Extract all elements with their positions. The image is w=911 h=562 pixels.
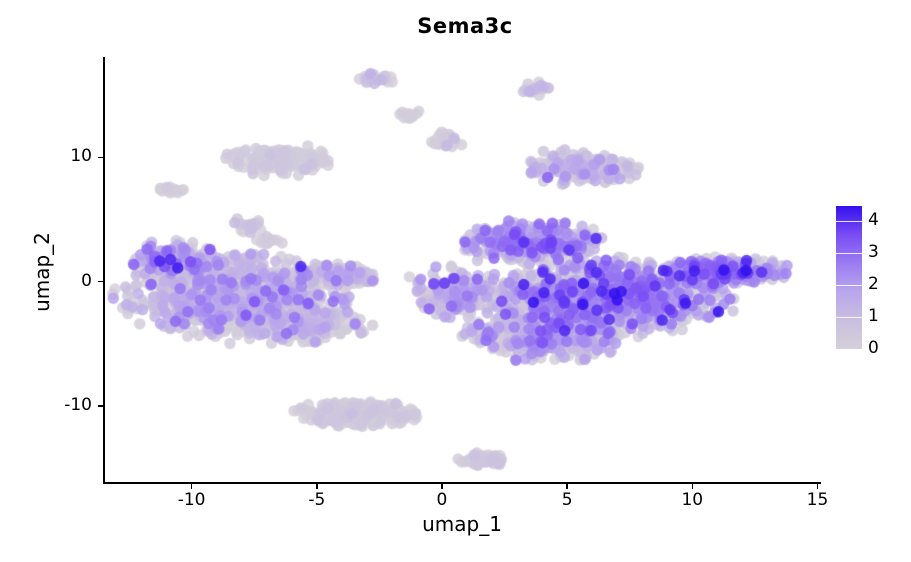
y-tick-label: -10 (32, 395, 92, 415)
x-tick-mark (191, 484, 193, 489)
x-tick-label: 10 (662, 490, 722, 510)
colorbar-tick-mark (836, 221, 862, 223)
x-tick-mark (316, 484, 318, 489)
y-axis-spine (103, 57, 105, 484)
colorbar-tick-mark (836, 253, 862, 255)
colorbar-tick-label: 3 (868, 242, 879, 262)
colorbar-tick-label: 1 (868, 306, 879, 326)
x-tick-mark (817, 484, 819, 489)
colorbar-tick-label: 2 (868, 274, 879, 294)
y-tick-mark (98, 281, 103, 283)
y-axis-label: umap_2 (30, 192, 54, 352)
y-tick-mark (98, 405, 103, 407)
x-tick-mark (692, 484, 694, 489)
colorbar-legend[interactable]: 43210 (836, 206, 906, 349)
y-tick-mark (98, 157, 103, 159)
x-tick-mark (441, 484, 443, 489)
scatter-points-layer (104, 58, 820, 483)
x-tick-label: -10 (162, 490, 222, 510)
page-title: Sema3c (0, 14, 911, 38)
colorbar-tick-mark (836, 285, 862, 287)
x-tick-label: 15 (787, 490, 847, 510)
x-tick-label: 0 (412, 490, 472, 510)
colorbar-tick-label: 0 (868, 338, 879, 358)
colorbar-tick-label: 4 (868, 210, 879, 230)
x-tick-label: -5 (287, 490, 347, 510)
plot-area[interactable] (104, 58, 820, 483)
umap-scatter-figure: Sema3c -10-5051015 100-10 umap_1 umap_2 … (0, 0, 911, 562)
x-axis-spine (103, 482, 821, 484)
colorbar-gradient (836, 206, 862, 349)
colorbar-tick-mark (836, 317, 862, 319)
x-tick-mark (566, 484, 568, 489)
x-axis-label: umap_1 (104, 512, 820, 536)
colorbar-tick-mark (836, 349, 862, 351)
x-tick-label: 5 (537, 490, 597, 510)
y-tick-label: 10 (32, 146, 92, 166)
